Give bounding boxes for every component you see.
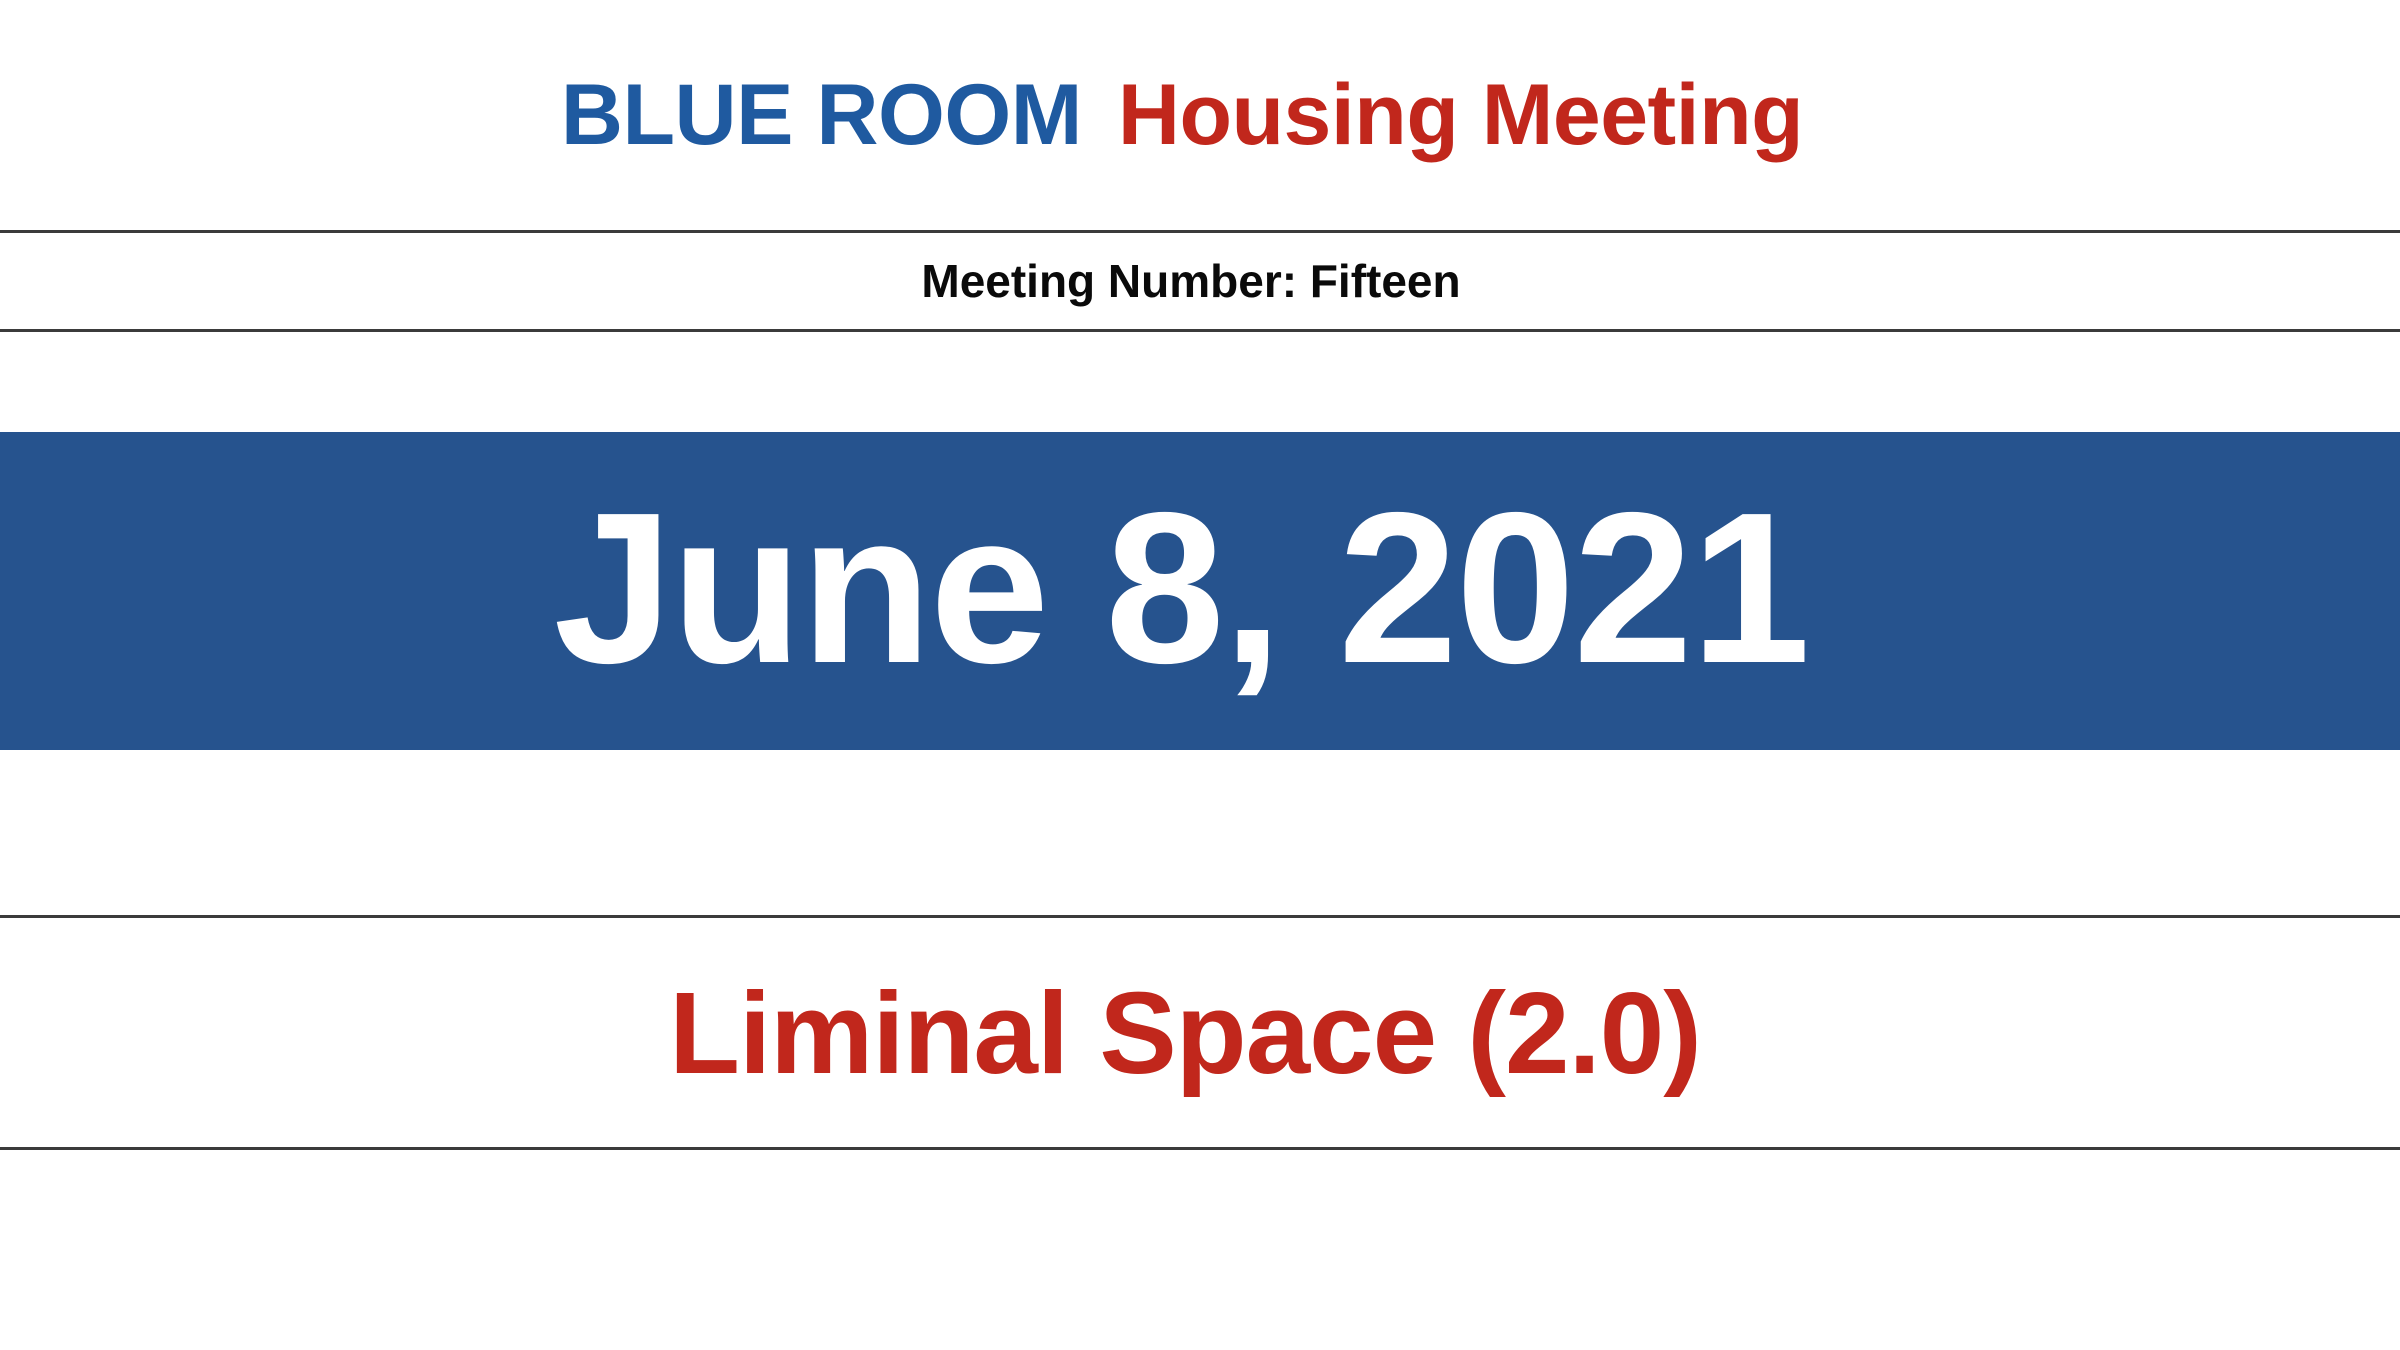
- meeting-number-label: Meeting Number: Fifteen: [921, 258, 1478, 304]
- date-banner: June 8, 2021: [0, 432, 2400, 750]
- meeting-date-text: June 8, 2021: [554, 480, 1847, 695]
- subtitle-text: Liminal Space (2.0): [669, 975, 1731, 1091]
- divider-line-2: [0, 329, 2400, 332]
- meeting-title-slide: BLUE ROOM Housing Meeting Meeting Number…: [0, 0, 2400, 1350]
- meeting-number-row: Meeting Number: Fifteen: [0, 233, 2400, 329]
- footer-empty-area: [0, 1150, 2400, 1350]
- slide-title-row: BLUE ROOM Housing Meeting: [0, 0, 2400, 230]
- title-secondary-text: Housing Meeting: [1118, 72, 1839, 158]
- title-primary-text: BLUE ROOM: [561, 72, 1118, 158]
- subtitle-row: Liminal Space (2.0): [0, 918, 2400, 1147]
